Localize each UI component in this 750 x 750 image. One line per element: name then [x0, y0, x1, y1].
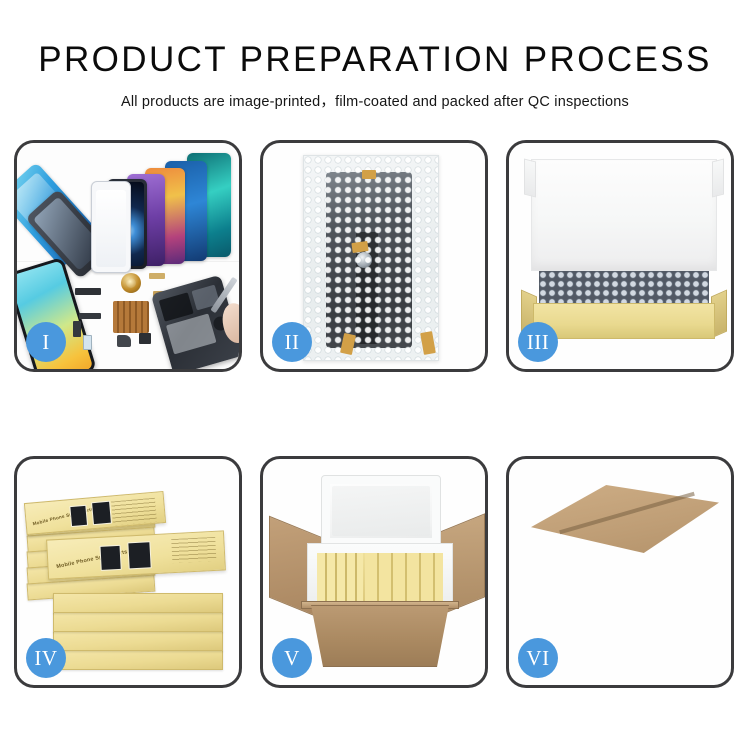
- bubble-texture: [304, 156, 438, 360]
- speaker-module-icon: [139, 333, 151, 344]
- retail-box: [53, 593, 223, 613]
- step-badge: V: [272, 638, 312, 678]
- component-bar-icon: [75, 288, 101, 295]
- flex-cable-icon: [73, 321, 81, 337]
- product-preparation-infographic: PRODUCT PREPARATION PROCESS All products…: [0, 0, 750, 750]
- component-bar-icon: [79, 313, 101, 319]
- box-phone-thumbnail: [99, 545, 121, 571]
- battery-icon: [159, 292, 194, 321]
- copper-coil-icon: [121, 273, 141, 293]
- carton-front: [305, 605, 455, 667]
- retail-box: [53, 631, 223, 651]
- mainboard-icon: [166, 313, 217, 354]
- step-badge: I: [26, 322, 66, 362]
- step-badge: III: [518, 322, 558, 362]
- gold-contact-icon: [149, 273, 165, 279]
- step-panel-stacked-retail-boxes: Mobile Phone Spare Parts Mobile Phone Sp…: [14, 456, 242, 688]
- phone-fan-group: [91, 151, 239, 271]
- retail-box: [53, 612, 223, 632]
- carton-face-left: [531, 543, 607, 651]
- retail-box-top-front: Mobile Phone Spare Parts: [46, 530, 226, 579]
- box-lid-icon: [531, 159, 717, 271]
- step-panel-open-inner-box: III: [506, 140, 734, 372]
- box-front-kraft: [533, 303, 715, 339]
- screw-grid-icon: [113, 301, 149, 333]
- step-badge: IV: [26, 638, 66, 678]
- header: PRODUCT PREPARATION PROCESS All products…: [0, 0, 750, 111]
- tempered-glass-icon: [91, 181, 131, 273]
- process-step-grid: I II: [14, 140, 736, 690]
- step-panel-bubble-wrap-bag: II: [260, 140, 488, 372]
- page-subtitle: All products are image-printed，film-coat…: [0, 79, 750, 111]
- step-panel-carton-with-foam: V: [260, 456, 488, 688]
- tape-icon: [362, 170, 376, 179]
- box-spec-text-lines: [111, 498, 157, 526]
- foam-lid-icon: [321, 475, 441, 547]
- step-panel-products-overview: I: [14, 140, 242, 372]
- page-title: PRODUCT PREPARATION PROCESS: [0, 0, 750, 79]
- box-phone-thumbnail: [91, 501, 112, 526]
- box-spec-text-lines: [171, 537, 216, 563]
- step-panel-sealed-carton: VI: [506, 456, 734, 688]
- retail-box: [53, 650, 223, 670]
- step-badge: VI: [518, 638, 558, 678]
- box-phone-thumbnail: [69, 505, 88, 527]
- box-phone-thumbnail: [127, 541, 151, 569]
- sim-tray-icon: [83, 335, 92, 350]
- bubble-wrap-bag: [303, 155, 439, 361]
- camera-module-icon: [117, 335, 131, 347]
- packed-retail-boxes: [317, 553, 443, 603]
- step-badge: II: [272, 322, 312, 362]
